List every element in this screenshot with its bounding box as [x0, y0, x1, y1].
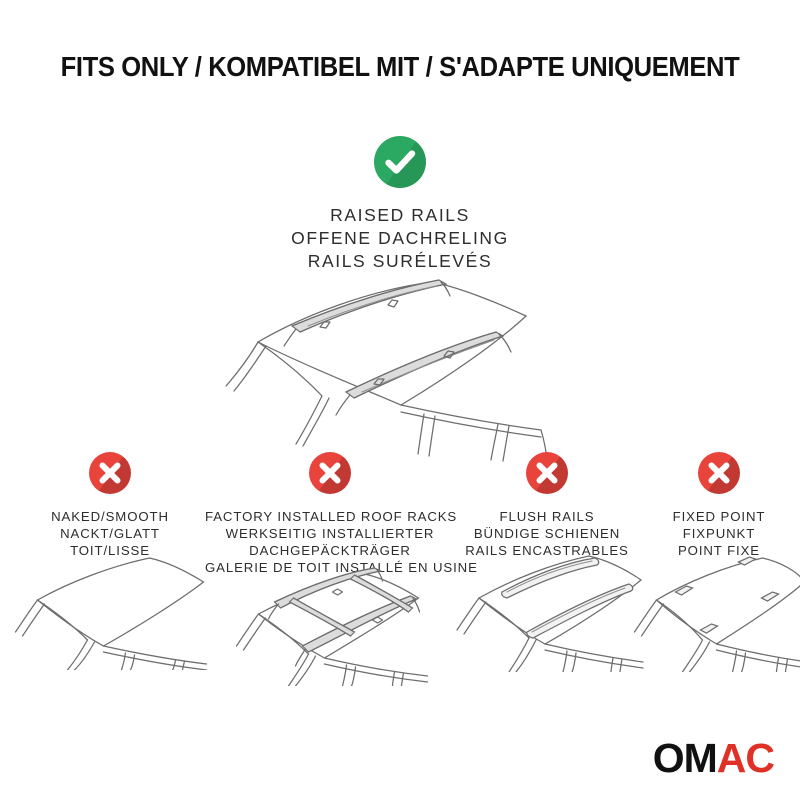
- incompatible-label-line-3: DACHGEPÄCKTRÄGER: [205, 542, 455, 559]
- check-circle-icon: [374, 136, 426, 188]
- incompatible-item-factory-roof-racks: FACTORY INSTALLED ROOF RACKS WERKSEITIG …: [205, 452, 455, 577]
- x-mark-glyph: [89, 452, 131, 494]
- car-roof-flush-rails-illustration: [447, 550, 647, 672]
- incompatible-label-line-1: NAKED/SMOOTH: [10, 508, 210, 525]
- incompatible-label-line-1: FIXED POINT: [638, 508, 800, 525]
- incompatible-item-naked-smooth: NAKED/SMOOTH NACKT/GLATT TOIT/LISSE: [10, 452, 210, 559]
- car-roof-with-raised-rails-illustration: [196, 274, 606, 464]
- x-mark-glyph: [526, 452, 568, 494]
- header-bar: FITS ONLY / KOMPATIBEL MIT / S'ADAPTE UN…: [0, 52, 800, 82]
- check-mark-glyph: [374, 136, 426, 188]
- incompatible-label-line-2: NACKT/GLATT: [10, 525, 210, 542]
- incompatible-label-line-1: FLUSH RAILS: [452, 508, 642, 525]
- incompatible-label-line-1: FACTORY INSTALLED ROOF RACKS: [205, 508, 455, 525]
- incompatible-label-line-2: WERKSEITIG INSTALLIERTER: [205, 525, 455, 542]
- omac-logo: OMAC: [653, 738, 774, 778]
- incompatible-section: NAKED/SMOOTH NACKT/GLATT TOIT/LISSE: [0, 452, 800, 692]
- car-roof-factory-roof-rack-illustration: [223, 564, 438, 686]
- x-circle-icon: [309, 452, 351, 494]
- incompatible-label-line-2: BÜNDIGE SCHIENEN: [452, 525, 642, 542]
- x-circle-icon: [89, 452, 131, 494]
- incompatible-item-fixed-point: FIXED POINT FIXPUNKT POINT FIXE: [638, 452, 800, 559]
- logo-text-red: AC: [717, 735, 774, 781]
- x-circle-icon: [526, 452, 568, 494]
- compatible-label-line-1: RAISED RAILS: [0, 204, 800, 227]
- car-roof-fixed-point-illustration: [627, 550, 800, 672]
- incompatible-item-flush-rails: FLUSH RAILS BÜNDIGE SCHIENEN RAILS ENCAS…: [452, 452, 642, 559]
- incompatible-label-line-2: FIXPUNKT: [638, 525, 800, 542]
- car-roof-naked-smooth-illustration: [8, 550, 213, 670]
- x-mark-glyph: [309, 452, 351, 494]
- logo-text-dark: OM: [653, 735, 717, 781]
- x-circle-icon: [698, 452, 740, 494]
- compatible-label-line-2: OFFENE DACHRELING: [0, 227, 800, 250]
- compatible-label-line-3: RAILS SURÉLEVÉS: [0, 250, 800, 273]
- compatible-label: RAISED RAILS OFFENE DACHRELING RAILS SUR…: [0, 204, 800, 272]
- compatible-section: RAISED RAILS OFFENE DACHRELING RAILS SUR…: [0, 136, 800, 272]
- page-title: FITS ONLY / KOMPATIBEL MIT / S'ADAPTE UN…: [28, 52, 772, 82]
- x-mark-glyph: [698, 452, 740, 494]
